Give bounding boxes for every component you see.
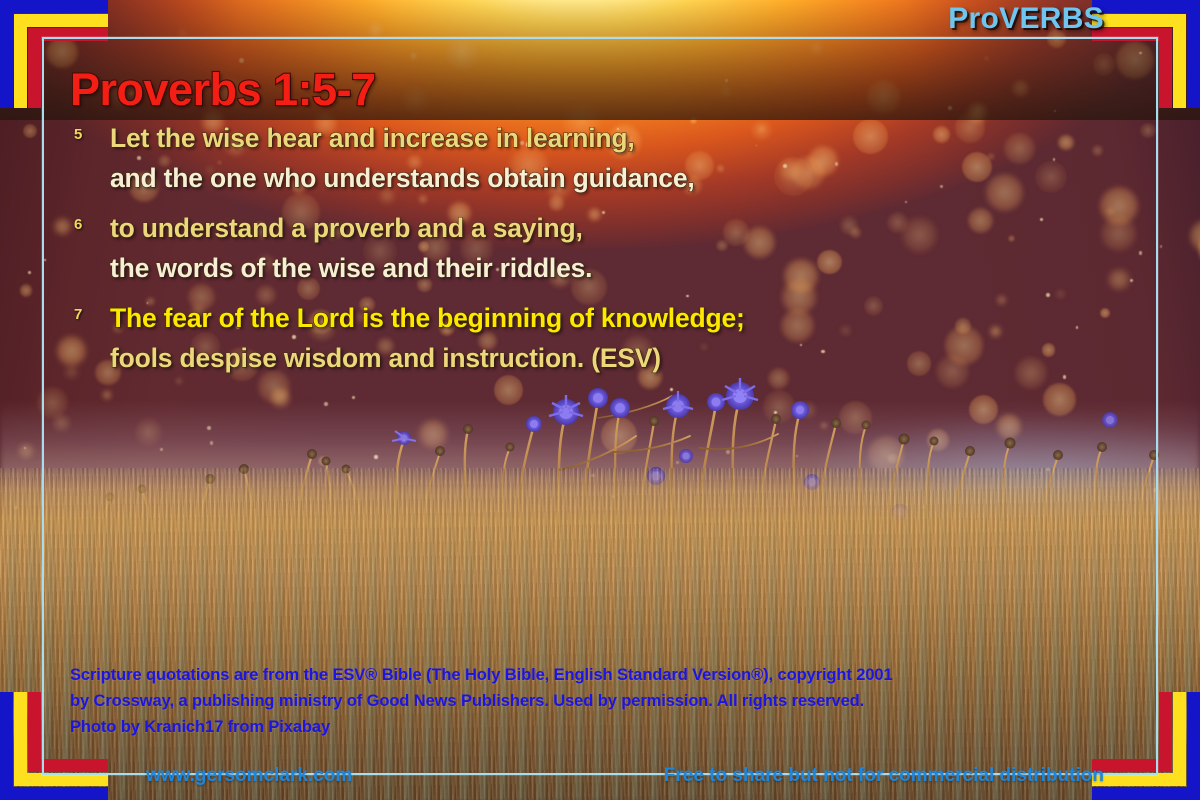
verse-block: 7The fear of the Lord is the beginning o…: [70, 298, 1010, 378]
verse-number: 6: [74, 216, 82, 233]
verse-line: Let the wise hear and increase in learni…: [110, 118, 1010, 158]
scripture-passage: 5Let the wise hear and increase in learn…: [70, 118, 1010, 388]
bracket-inner-arm-vertical: [1159, 692, 1172, 772]
credit-line: by Crossway, a publishing ministry of Go…: [70, 688, 1080, 714]
credit-line: Photo by Kranich17 from Pixabay: [70, 714, 1080, 740]
verse-line: to understand a proverb and a saying,: [110, 208, 1010, 248]
verse-number: 7: [74, 306, 82, 323]
bracket-outer-arm-horizontal: [0, 0, 108, 13]
brand-title: ProVERBS: [948, 2, 1104, 36]
verse-block: 6to understand a proverb and a saying,th…: [70, 208, 1010, 288]
bracket-middle-arm-vertical: [1173, 14, 1186, 108]
verse-line: the words of the wise and their riddles.: [110, 248, 1010, 288]
verse-line: fools despise wisdom and instruction. (E…: [110, 338, 1010, 378]
bracket-inner-arm-vertical: [28, 28, 41, 108]
bracket-middle-arm-horizontal: [1092, 14, 1186, 27]
copyright-credits: Scripture quotations are from the ESV® B…: [70, 662, 1080, 740]
bracket-outer-arm-horizontal: [1092, 0, 1200, 13]
credit-line: Scripture quotations are from the ESV® B…: [70, 662, 1080, 688]
verse-block: 5Let the wise hear and increase in learn…: [70, 118, 1010, 198]
share-permission-note: Free to share but not for commercial dis…: [664, 765, 1104, 787]
verse-line: and the one who understands obtain guida…: [110, 158, 1010, 198]
bracket-outer-arm-vertical: [0, 0, 13, 108]
slide-canvas: ProVERBS Proverbs 1:5-7 5Let the wise he…: [0, 0, 1200, 800]
corner-bracket-top-right: [1092, 0, 1200, 108]
bracket-inner-arm-vertical: [1159, 28, 1172, 108]
bracket-inner-arm-vertical: [28, 692, 41, 772]
verse-number: 5: [74, 126, 82, 143]
footer-bar: www.gersomclark.com Free to share but no…: [0, 765, 1200, 795]
bracket-middle-arm-vertical: [14, 14, 27, 108]
bracket-middle-arm-horizontal: [14, 14, 108, 27]
background-wheat-ears: [0, 500, 1200, 800]
website-url[interactable]: www.gersomclark.com: [146, 765, 352, 787]
page-title: Proverbs 1:5-7: [70, 64, 376, 116]
verse-line: The fear of the Lord is the beginning of…: [110, 298, 1010, 338]
bracket-outer-arm-vertical: [1187, 0, 1200, 108]
